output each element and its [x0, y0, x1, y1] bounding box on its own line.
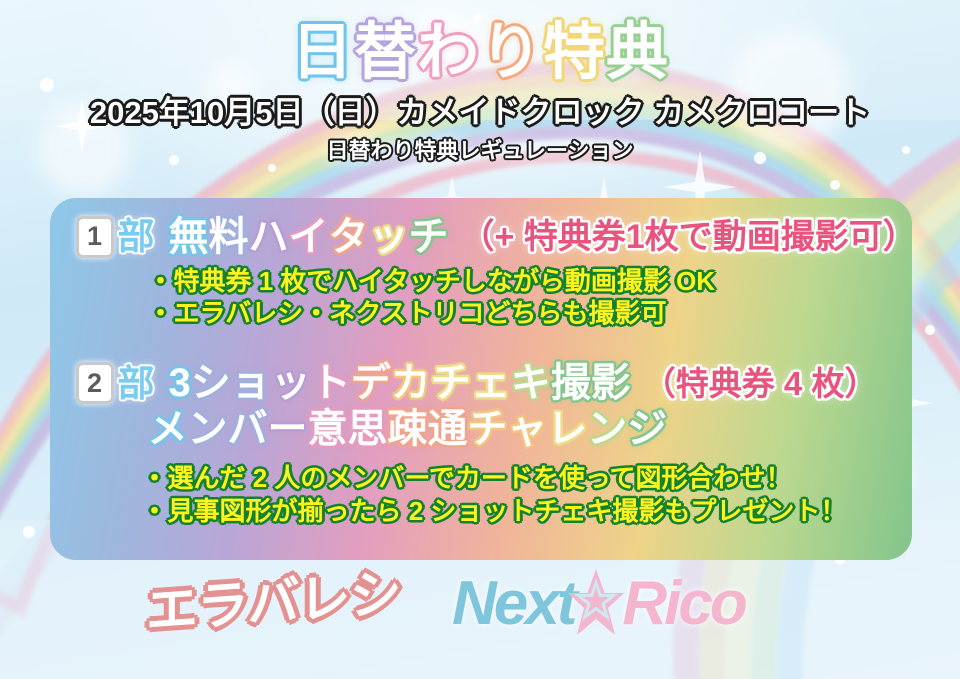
headline-char: キ — [511, 362, 551, 404]
subheadline-char: バ — [228, 408, 268, 450]
section-subtitle: 日替わり特典レギュレーション — [0, 139, 960, 163]
page-title: 日替わり特典 — [291, 22, 669, 84]
part-number-badge: 2 — [76, 362, 114, 404]
subheadline-char: 思 — [348, 408, 388, 450]
subheadline-char: ン — [587, 408, 627, 450]
headline-char: タ — [329, 216, 369, 258]
headline-char: 料 — [209, 216, 249, 258]
headline-char: イ — [289, 216, 329, 258]
subheadline-char: チャ — [468, 408, 548, 450]
title-char: 日 — [291, 22, 354, 84]
title-char: 特 — [543, 22, 606, 84]
part-label: 部 — [118, 218, 155, 255]
bullet-item: ・特典券 1 枚でハイタッチしながら動画撮影 OK — [148, 265, 891, 298]
title-char: わ — [417, 22, 480, 84]
headline-char: チ — [409, 216, 449, 258]
headline-char: ッ — [271, 362, 311, 404]
headline-char: デ — [351, 362, 391, 404]
part-1-note: （+ 特典券1枚で動画撮影可） — [461, 220, 917, 254]
part-2-bullets: ・選んだ 2 人のメンバーでカードを使って図形合わせ！ ・見事図形が揃ったら 2… — [142, 462, 891, 528]
group-logos: エラバレシ Next Rico — [0, 569, 960, 663]
headline-char: ハ — [249, 216, 289, 258]
next-rico-logo: Next Rico — [452, 569, 745, 639]
part-2-headline: 3ショットデカチェキ撮影 — [169, 362, 631, 404]
part-label: 部 — [118, 365, 155, 402]
title-char: 典 — [606, 22, 669, 84]
part-2-headline-row: 2 部 3ショットデカチェキ撮影 （特典券 4 枚） — [76, 362, 891, 404]
bullet-item: ・見事図形が揃ったら 2 ショットチェキ撮影もプレゼント！ — [142, 495, 891, 528]
headline-char: 3 — [169, 362, 191, 404]
part-1-bullets: ・特典券 1 枚でハイタッチしながら動画撮影 OK ・エラバレシ・ネクストリコど… — [148, 265, 891, 331]
part-block-2: 2 部 3ショットデカチェキ撮影 （特典券 4 枚） メンバー意思疎通チャレンジ… — [76, 362, 891, 528]
star-icon — [568, 569, 624, 639]
part-2-subheadline: メンバー意思疎通チャレンジ — [148, 408, 891, 450]
subheadline-char: 通 — [428, 408, 468, 450]
erabareshi-logo: エラバレシ — [146, 568, 400, 638]
poster-canvas: 日替わり特典 2025年10月5日（日）カメイドクロック カメクロコート 日替わ… — [0, 0, 960, 679]
regulation-panel: 1 部 無料ハイタッチ （+ 特典券1枚で動画撮影可） ・特典券 1 枚でハイタ… — [50, 198, 912, 560]
part-2-note: （特典券 4 枚） — [643, 367, 878, 400]
bullet-item: ・選んだ 2 人のメンバーでカードを使って図形合わせ！ — [142, 462, 891, 495]
bullet-item: ・エラバレシ・ネクストリコどちらも撮影可 — [148, 297, 891, 330]
part-block-1: 1 部 無料ハイタッチ （+ 特典券1枚で動画撮影可） ・特典券 1 枚でハイタ… — [76, 216, 891, 331]
part-number-badge: 1 — [76, 216, 114, 258]
headline-char: 撮影 — [551, 362, 631, 404]
headline-char: カ — [391, 362, 431, 404]
part-1-headline-row: 1 部 無料ハイタッチ （+ 特典券1枚で動画撮影可） — [76, 216, 891, 258]
headline-char: ッ — [369, 216, 409, 258]
headline-char: チェ — [431, 362, 511, 404]
regulation-panel-inner: 1 部 無料ハイタッチ （+ 特典券1枚で動画撮影可） ・特典券 1 枚でハイタ… — [54, 202, 909, 557]
subheadline-char: ジ — [627, 408, 667, 450]
subheadline-char: レ — [547, 408, 587, 450]
subheadline-char: ン — [188, 408, 228, 450]
headline-char: ショ — [191, 362, 271, 404]
subheadline-char: メ — [148, 408, 188, 450]
poster-header: 日替わり特典 2025年10月5日（日）カメイドクロック カメクロコート 日替わ… — [0, 22, 960, 163]
part-1-headline: 無料ハイタッチ — [169, 216, 449, 258]
subheadline-char: 疎 — [388, 408, 428, 450]
title-char: 替 — [354, 22, 417, 84]
headline-char: ト — [311, 362, 351, 404]
headline-char: 無 — [169, 216, 209, 258]
next-rico-logo-next-text: Next — [452, 573, 574, 635]
subheadline-char: ー — [268, 408, 308, 450]
event-date-venue: 2025年10月5日（日）カメイドクロック カメクロコート — [0, 96, 960, 130]
subheadline-char: 意 — [308, 408, 348, 450]
next-rico-logo-rico-text: Rico — [622, 573, 744, 635]
title-char: り — [480, 22, 543, 84]
